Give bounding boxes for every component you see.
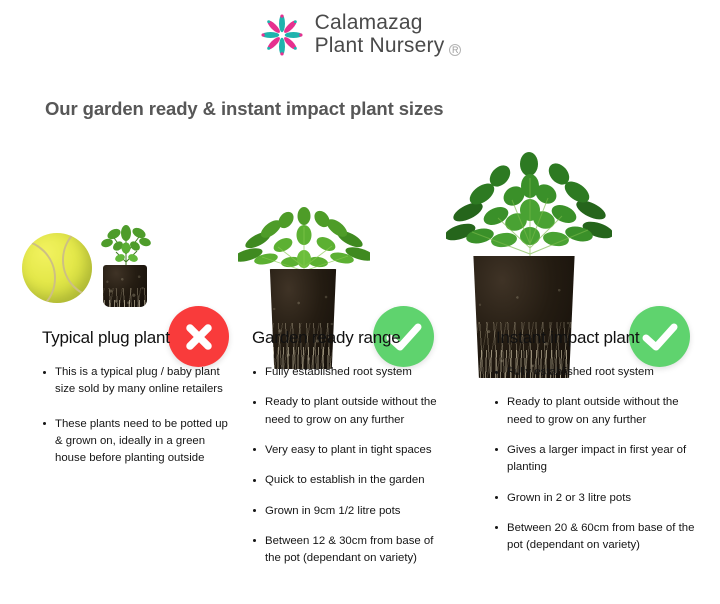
list-item: Gives a larger impact in first year of p… <box>492 442 702 477</box>
bullet-list-garden-ready-range: Fully established root system Ready to p… <box>252 364 452 568</box>
brand-logo: Calamazag Plant Nursery R <box>0 12 720 58</box>
column-title-typical-plug-plant: Typical plug plant <box>42 328 237 348</box>
bullet-list-instant-impact-plant: Fully established root system Ready to p… <box>492 364 702 555</box>
column-typical-plug-plant: Typical plug plant This is a typical plu… <box>42 328 237 485</box>
column-instant-impact-plant: Instant impact plant Fully established r… <box>492 328 702 568</box>
list-item: These plants need to be potted up & grow… <box>42 416 237 468</box>
list-item: Fully established root system <box>252 364 452 381</box>
list-item: This is a typical plug / baby plant size… <box>42 364 237 399</box>
column-title-garden-ready-range: Garden ready range <box>252 328 452 348</box>
column-title-instant-impact-plant: Instant impact plant <box>496 328 702 348</box>
list-item: Ready to plant outside without the need … <box>492 394 702 429</box>
list-item: Fully established root system <box>492 364 702 381</box>
bullet-list-typical-plug-plant: This is a typical plug / baby plant size… <box>42 364 237 468</box>
list-item: Very easy to plant in tight spaces <box>252 442 452 459</box>
list-item: Between 12 & 30cm from base of the pot (… <box>252 533 452 568</box>
instant-impact-plant-foliage <box>446 148 612 268</box>
plug-plant-foliage <box>96 220 156 270</box>
list-item: Quick to establish in the garden <box>252 472 452 489</box>
registered-trademark-icon: R <box>449 44 461 56</box>
list-item: Between 20 & 60cm from base of the pot (… <box>492 520 702 555</box>
list-item: Ready to plant outside without the need … <box>252 394 452 429</box>
plug-plant-rootball <box>103 265 147 307</box>
plant-size-comparison-illustrations <box>0 70 720 320</box>
tennis-ball-image <box>22 233 92 303</box>
list-item: Grown in 2 or 3 litre pots <box>492 490 702 507</box>
brand-name-line-2: Plant Nursery <box>315 35 445 58</box>
brand-name-line-1: Calamazag <box>315 12 462 35</box>
column-garden-ready-range: Garden ready range Fully established roo… <box>252 328 452 581</box>
list-item: Grown in 9cm 1/2 litre pots <box>252 503 452 520</box>
flower-starburst-icon <box>259 12 305 58</box>
